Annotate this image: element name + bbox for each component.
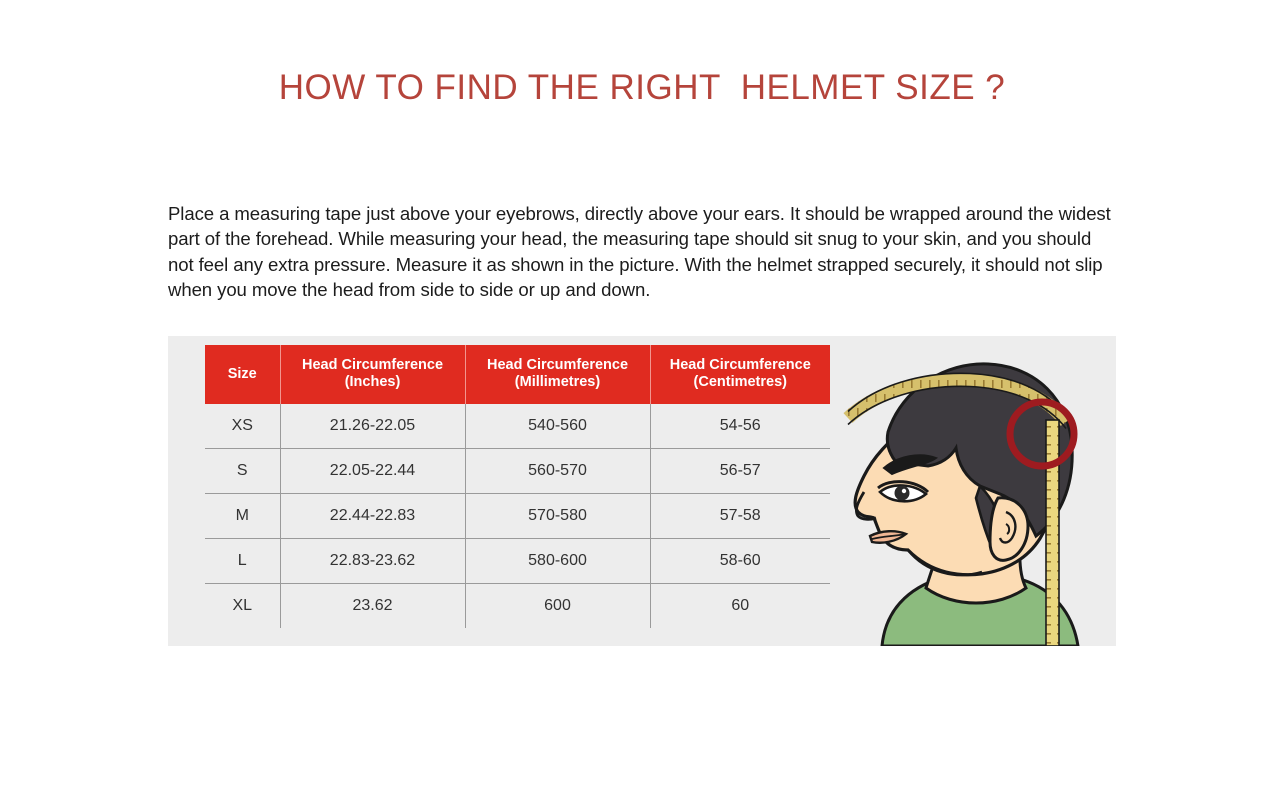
cell-cm: 54-56	[650, 404, 830, 449]
head-profile-figure	[830, 336, 1116, 646]
cell-cm: 58-60	[650, 539, 830, 584]
table-row: XL 23.62 600 60	[205, 584, 830, 629]
helmet-size-table: Size Head Circumference (Inches) Head Ci…	[205, 345, 830, 628]
cell-size: S	[205, 449, 280, 494]
cell-size: XL	[205, 584, 280, 629]
page-title: HOW TO FIND THE RIGHT HELMET SIZE ?	[0, 68, 1284, 108]
column-header-millimetres: Head Circumference (Millimetres)	[465, 345, 650, 404]
cell-size: M	[205, 494, 280, 539]
cell-size: L	[205, 539, 280, 584]
head-measurement-illustration	[830, 336, 1116, 646]
cell-mm: 600	[465, 584, 650, 629]
cell-mm: 560-570	[465, 449, 650, 494]
cell-cm: 56-57	[650, 449, 830, 494]
cell-mm: 570-580	[465, 494, 650, 539]
table-header-row: Size Head Circumference (Inches) Head Ci…	[205, 345, 830, 404]
table-row: S 22.05-22.44 560-570 56-57	[205, 449, 830, 494]
cell-cm: 60	[650, 584, 830, 629]
cell-inches: 23.62	[280, 584, 465, 629]
cell-cm: 57-58	[650, 494, 830, 539]
cell-mm: 580-600	[465, 539, 650, 584]
cell-inches: 21.26-22.05	[280, 404, 465, 449]
cell-inches: 22.83-23.62	[280, 539, 465, 584]
table-row: M 22.44-22.83 570-580 57-58	[205, 494, 830, 539]
cell-inches: 22.05-22.44	[280, 449, 465, 494]
size-chart-panel: Size Head Circumference (Inches) Head Ci…	[168, 336, 1116, 646]
cell-inches: 22.44-22.83	[280, 494, 465, 539]
cell-size: XS	[205, 404, 280, 449]
column-header-inches: Head Circumference (Inches)	[280, 345, 465, 404]
intro-paragraph: Place a measuring tape just above your e…	[168, 201, 1120, 303]
cell-mm: 540-560	[465, 404, 650, 449]
column-header-size: Size	[205, 345, 280, 404]
table-row: L 22.83-23.62 580-600 58-60	[205, 539, 830, 584]
column-header-centimetres: Head Circumference (Centimetres)	[650, 345, 830, 404]
table-row: XS 21.26-22.05 540-560 54-56	[205, 404, 830, 449]
